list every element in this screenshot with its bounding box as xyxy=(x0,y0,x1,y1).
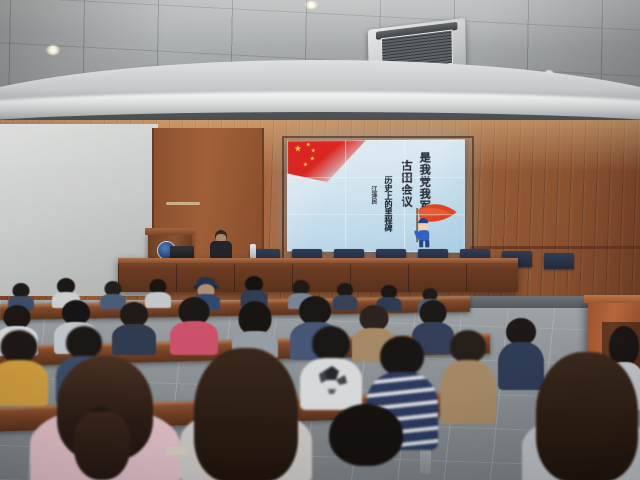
wall-trim-rail xyxy=(470,246,640,249)
head xyxy=(450,330,486,363)
seated-presenter xyxy=(210,230,232,260)
audience-member-pink-tshirt xyxy=(170,297,218,353)
audience-member xyxy=(112,302,156,352)
lecture-hall-photo: ★ ★ ★ ★ ★ 是我党我军 古田会议 历史上的里程碑 江泽民 xyxy=(0,0,640,480)
torso xyxy=(440,360,496,424)
hair xyxy=(194,348,298,480)
head xyxy=(329,404,403,466)
head xyxy=(380,336,424,376)
audience-member xyxy=(8,283,34,307)
door-handle[interactable] xyxy=(166,202,200,205)
head xyxy=(299,296,331,325)
soccer-ball-pattern-icon xyxy=(312,356,352,396)
audience-member xyxy=(232,301,278,355)
side-desk-top xyxy=(584,295,640,303)
audience-member-long-hair-right xyxy=(522,352,640,480)
hair xyxy=(239,301,272,335)
presidium-table xyxy=(118,258,518,292)
audience-member-tan-jacket-near xyxy=(440,330,496,422)
head xyxy=(66,326,102,359)
audience-member-long-hair-foreground xyxy=(180,348,312,480)
table-edge xyxy=(118,258,518,263)
ceiling-downlight xyxy=(46,45,60,55)
lectern-top xyxy=(145,228,195,235)
audience-member-head-foreground xyxy=(318,404,414,480)
ceiling-downlight xyxy=(305,1,318,9)
torso xyxy=(112,324,156,355)
table-front-panels xyxy=(118,264,518,292)
ponytail xyxy=(74,412,130,480)
head xyxy=(506,318,536,345)
hair xyxy=(536,352,638,480)
video-wall-frame xyxy=(282,136,474,261)
paper-on-bench xyxy=(165,447,190,455)
stage-chair[interactable] xyxy=(544,253,574,269)
